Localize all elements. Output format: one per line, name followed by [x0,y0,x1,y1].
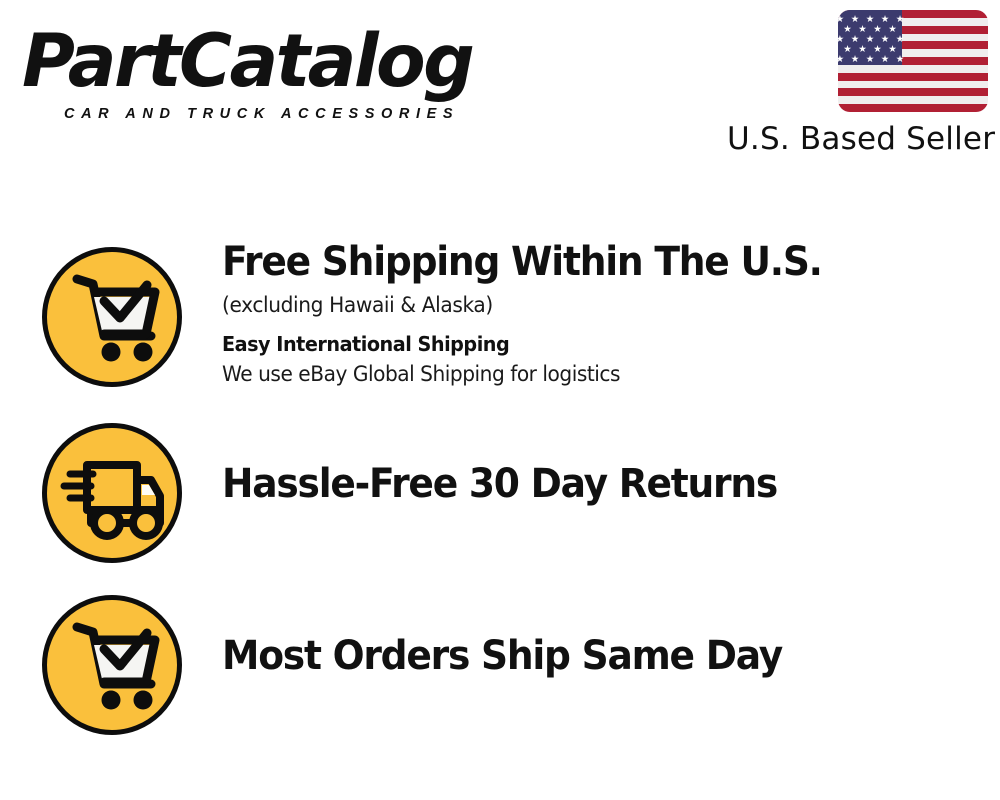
feature-sub-note: We use eBay Global Shipping for logistic… [222,359,952,389]
flag-stripe [838,96,988,104]
delivery-truck-icon [42,423,182,563]
shopping-cart-check-icon [42,595,182,735]
brand-tagline: CAR AND TRUCK ACCESSORIES [64,106,459,122]
feature-row: Most Orders Ship Same Day [0,592,1000,744]
feature-text-block: Free Shipping Within The U.S. (excluding… [222,238,982,389]
feature-row: Hassle-Free 30 Day Returns [0,420,1000,572]
feature-heading: Most Orders Ship Same Day [222,632,936,680]
us-based-seller-label: U.S. Based Seller [727,120,987,158]
feature-heading: Hassle-Free 30 Day Returns [222,460,936,508]
flag-stripe [838,65,988,73]
brand-wordmark: PartCatalog [22,22,472,102]
feature-heading: Free Shipping Within The U.S. [222,238,936,286]
feature-row: Free Shipping Within The U.S. (excluding… [0,238,1000,410]
feature-text-block: Hassle-Free 30 Day Returns [222,460,982,508]
us-flag-icon: ★★★★★ ★★★★ ★★★★★ ★★★★ ★★★★★ [838,10,988,112]
flag-star-row: ★★★★★ [838,55,902,65]
flag-stripe [838,73,988,81]
flag-stripe [838,104,988,112]
brand-logo[interactable]: PartCatalog CAR AND TRUCK ACCESSORIES [22,22,492,112]
feature-text-block: Most Orders Ship Same Day [222,632,982,680]
flag-canton: ★★★★★ ★★★★ ★★★★★ ★★★★ ★★★★★ [838,10,902,65]
feature-sub-title: Easy International Shipping [222,330,952,358]
feature-note: (excluding Hawaii & Alaska) [222,290,952,320]
shopping-cart-check-icon [42,247,182,387]
flag-stripe [838,88,988,96]
page-header: PartCatalog CAR AND TRUCK ACCESSORIES ★★… [0,0,1000,180]
flag-stripe [838,81,988,89]
